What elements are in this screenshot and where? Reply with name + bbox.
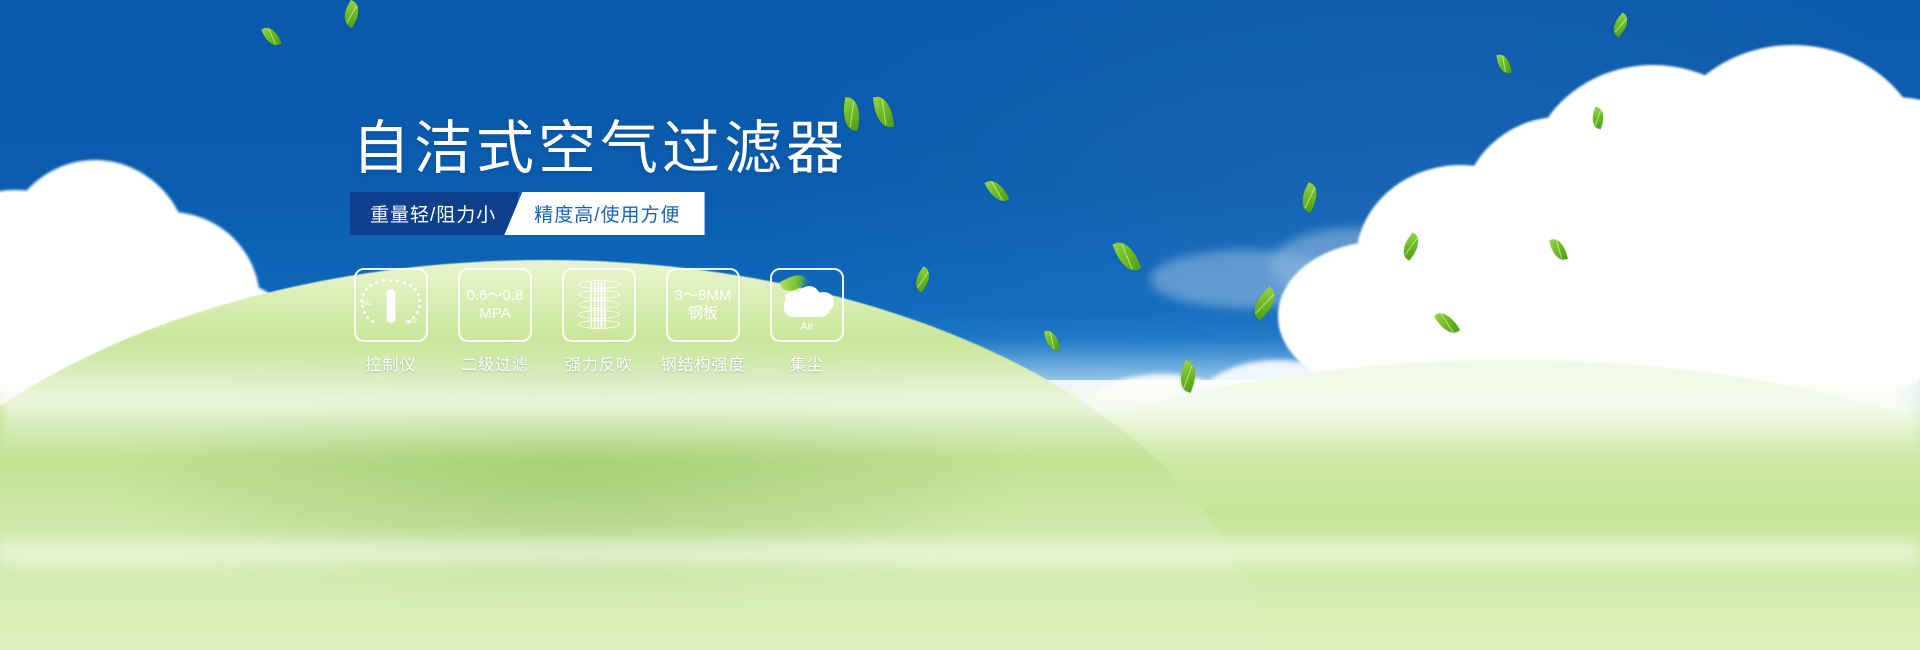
feature-label: 强力反吹 [565,351,633,375]
banner-content: 自洁式空气过滤器 重量轻/阻力小 精度高/使用方便 [0,0,1920,650]
tagline-tab-2[interactable]: 精度高/使用方便 [504,192,704,235]
feature-item-steel[interactable]: 3～8MM 钢板 钢结构强度 [664,268,742,375]
steel-thickness: 3～8MM [675,287,732,304]
air-caption: Air [778,321,836,333]
gauge-label-off: OFF [405,320,418,326]
feature-list: NO OFF 控制仪 0.6～0.8 MPA 二级过滤 [352,268,846,375]
feature-icon-box: NO OFF [354,268,428,342]
steel-plate-text-icon: 3～8MM 钢板 [675,287,732,323]
feature-icon-box [562,268,636,342]
pressure-unit: MPA [467,305,524,323]
gauge-icon: NO OFF [361,277,421,333]
hero-banner: 自洁式空气过滤器 重量轻/阻力小 精度高/使用方便 [0,0,1920,650]
pressure-value: 0.6～0.8 [467,287,524,304]
feature-item-control[interactable]: NO OFF 控制仪 [352,268,430,375]
tagline-tab-1[interactable]: 重量轻/阻力小 [350,192,518,235]
gauge-needle-icon [387,289,396,323]
steel-material: 钢板 [675,305,732,323]
feature-icon-box: 0.6～0.8 MPA [458,268,532,342]
feature-item-backblow[interactable]: 强力反吹 [560,268,638,375]
tagline-tabs: 重量轻/阻力小 精度高/使用方便 [350,192,705,235]
page-title: 自洁式空气过滤器 [352,117,848,181]
air-cloud-icon: Air [778,280,836,330]
gauge-label-on: NO [362,301,372,307]
feature-label: 钢结构强度 [661,351,746,375]
feature-icon-box: Air [770,268,844,342]
pressure-text-icon: 0.6～0.8 MPA [467,287,524,323]
feature-icon-box: 3～8MM 钢板 [666,268,740,342]
coil-filter-icon [575,279,623,331]
feature-item-pressure[interactable]: 0.6～0.8 MPA 二级过滤 [456,268,534,375]
feature-item-dust[interactable]: Air 集尘 [768,268,846,375]
feature-label: 控制仪 [365,351,416,375]
feature-label: 二级过滤 [461,351,529,375]
feature-label: 集尘 [790,351,824,375]
